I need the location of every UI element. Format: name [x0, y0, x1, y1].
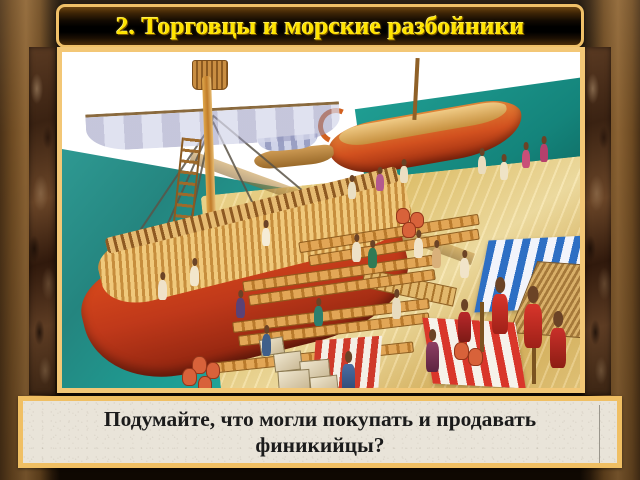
illustration-frame [57, 47, 585, 393]
stone-column-left [29, 47, 55, 395]
merchant-red-robe [550, 328, 566, 368]
cargo-crate [277, 369, 310, 388]
amphora [454, 342, 469, 360]
stone-column-right [585, 47, 611, 395]
dock-worker [376, 174, 384, 191]
dock-worker [262, 228, 270, 246]
amphora [198, 376, 212, 388]
caption-line-2: финикийцы? [255, 432, 384, 458]
dock-worker [348, 182, 356, 199]
merchant-red-robe [492, 294, 508, 334]
dock-worker [460, 258, 469, 278]
caption-line-1: Подумайте, что могли покупать и продават… [104, 406, 536, 432]
dock-worker [262, 334, 271, 356]
merchant-red-robe [342, 364, 355, 388]
slide-root: 2. Торговцы и морские разбойники [0, 0, 640, 480]
dock-worker [352, 242, 361, 262]
merchant-red-robe [458, 312, 471, 342]
amphora [182, 368, 197, 386]
dock-worker [392, 298, 401, 319]
stall-post [480, 302, 484, 352]
dock-worker [522, 150, 530, 168]
dock-worker [314, 306, 323, 326]
caption-box: Подумайте, что могли покупать и продават… [18, 396, 622, 468]
dock-worker [400, 166, 408, 183]
cargo-crate [309, 375, 339, 388]
dock-worker [478, 156, 486, 174]
page-title: 2. Торговцы и морские разбойники [116, 13, 525, 39]
dock-worker [236, 298, 245, 318]
text-cursor [599, 405, 600, 467]
dock-worker [540, 144, 548, 162]
dock-worker [500, 162, 508, 180]
dock-worker [368, 248, 377, 268]
title-banner: 2. Торговцы и морские разбойники [56, 4, 584, 48]
dock-worker [432, 248, 441, 268]
dock-worker [414, 238, 423, 258]
dock-worker [158, 280, 167, 300]
dock-worker [190, 266, 199, 286]
amphora [402, 222, 416, 238]
amphora [468, 348, 483, 366]
harbor-illustration [62, 52, 580, 388]
merchant-red-robe [426, 342, 439, 372]
merchant-red-robe [524, 304, 542, 348]
